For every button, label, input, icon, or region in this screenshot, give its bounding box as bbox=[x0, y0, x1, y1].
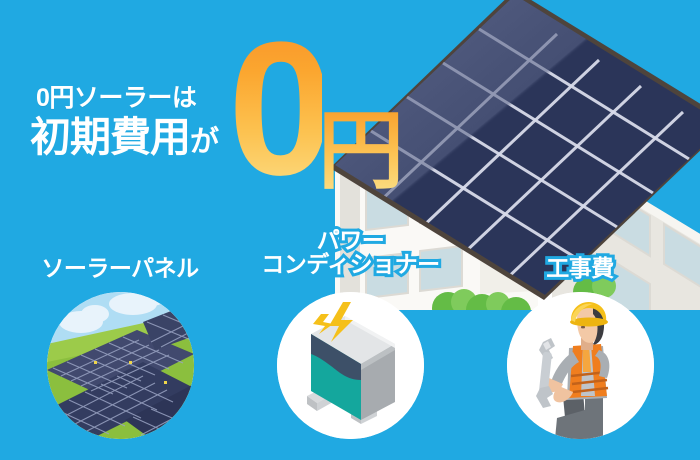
label-solar-panel-line-1: ソーラーパネル bbox=[41, 255, 198, 281]
label-construction-cost-line-1: 工事費 bbox=[546, 255, 614, 281]
banner-stage: 0 円 0円ソーラーは 初期費用が bbox=[0, 0, 700, 460]
big-yen-unit: 円 bbox=[318, 108, 404, 194]
label-power-conditioner-line-2: コンディショナー bbox=[261, 251, 439, 277]
feature-circle-construction-cost[interactable] bbox=[507, 292, 654, 439]
label-solar-panel: ソーラーパネル bbox=[10, 256, 230, 280]
big-zero-number: 0 bbox=[228, 14, 322, 204]
label-construction-cost: 工事費 bbox=[520, 256, 640, 280]
headline-line-2-main: 初期費用 bbox=[30, 114, 190, 160]
label-power-conditioner: パワー コンディショナー bbox=[243, 228, 458, 276]
headline-line-2: 初期費用が bbox=[30, 117, 218, 158]
headline-line-1: 0円ソーラーは bbox=[36, 86, 196, 111]
feature-circle-power-conditioner[interactable] bbox=[277, 292, 424, 439]
feature-circle-solar-panel[interactable] bbox=[47, 292, 194, 439]
headline-line-2-suffix: が bbox=[190, 126, 218, 158]
label-power-conditioner-line-1: パワー bbox=[317, 227, 385, 253]
